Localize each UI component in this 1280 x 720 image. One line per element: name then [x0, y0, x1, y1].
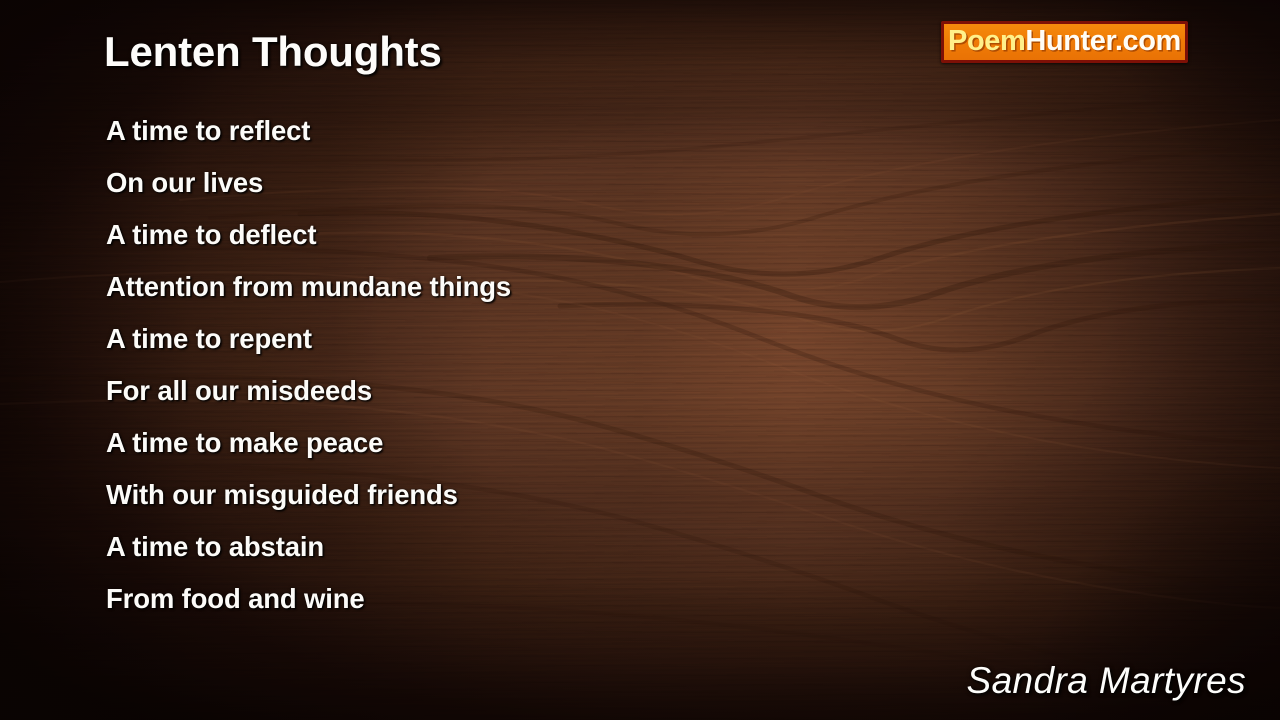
poem-line: On our lives [106, 164, 511, 216]
poem-line: With our misguided friends [106, 476, 511, 528]
poem-body: A time to reflect On our lives A time to… [106, 112, 511, 632]
poem-line: A time to deflect [106, 216, 511, 268]
poem-author-signature: Sandra Martyres [967, 660, 1247, 702]
card-content: Lenten Thoughts A time to reflect On our… [0, 0, 1280, 720]
poem-line: From food and wine [106, 580, 511, 632]
poem-line: A time to reflect [106, 112, 511, 164]
poem-image-card: Lenten Thoughts A time to reflect On our… [0, 0, 1280, 720]
poemhunter-logo[interactable]: PoemHunter.com [941, 21, 1188, 63]
poem-line: A time to repent [106, 320, 511, 372]
poem-title: Lenten Thoughts [104, 28, 442, 76]
logo-text-hunter: Hunter.com [1025, 25, 1181, 57]
poem-line: For all our misdeeds [106, 372, 511, 424]
poem-line: Attention from mundane things [106, 268, 511, 320]
logo-text-poem: Poem [948, 25, 1025, 57]
poem-line: A time to abstain [106, 528, 511, 580]
poem-line: A time to make peace [106, 424, 511, 476]
